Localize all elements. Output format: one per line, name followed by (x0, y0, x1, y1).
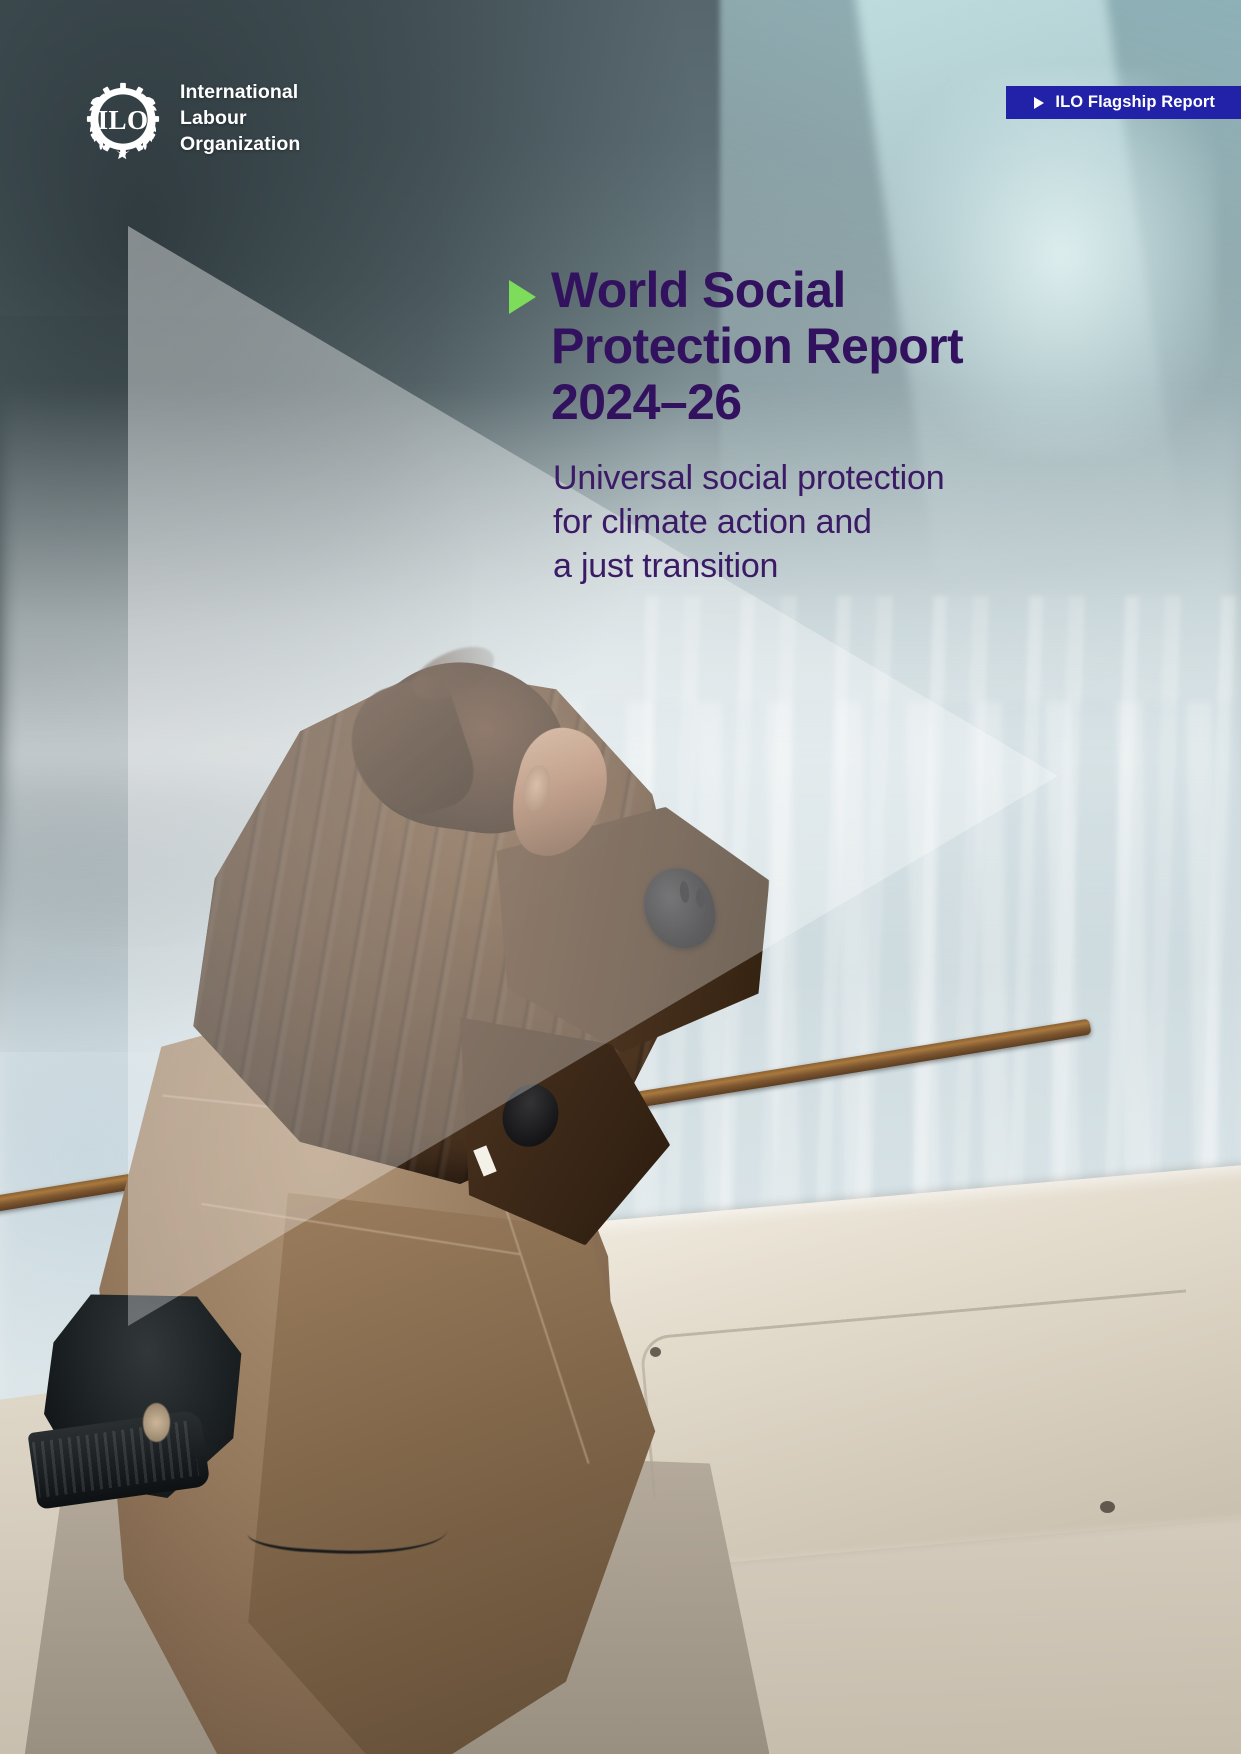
ilo-logo: ILO International Labour Organization (82, 78, 300, 160)
ilo-emblem-gear-laurel-icon: ILO (82, 78, 164, 160)
logo-line-organization: Organization (180, 132, 300, 158)
cool-cast-left (0, 807, 496, 1509)
svg-text:ILO: ILO (98, 105, 149, 135)
ilo-logo-wordmark: International Labour Organization (180, 80, 300, 158)
logo-line-labour: Labour (180, 106, 300, 132)
triangle-right-icon (1034, 97, 1044, 109)
title-row: World Social Protection Report 2024–26 (553, 262, 1113, 430)
subtitle-line-1: Universal social protection (553, 456, 1113, 500)
title-triangle-right-icon (509, 280, 536, 314)
flagship-report-badge: ILO Flagship Report (1006, 86, 1241, 119)
page-title: World Social Protection Report 2024–26 (551, 262, 963, 430)
page-subtitle: Universal social protection for climate … (553, 456, 1113, 589)
flagship-report-label: ILO Flagship Report (1055, 93, 1215, 112)
title-line-1: World Social (551, 262, 963, 318)
title-line-2: Protection Report (551, 318, 963, 374)
title-line-3: 2024–26 (551, 374, 963, 430)
subtitle-line-3: a just transition (553, 544, 1113, 588)
ice-striations-soft (571, 702, 1241, 1579)
report-cover-page: ILO International Labour Organization IL… (0, 0, 1241, 1754)
logo-line-international: International (180, 80, 300, 106)
cover-title-block: World Social Protection Report 2024–26 U… (553, 262, 1113, 589)
subtitle-line-2: for climate action and (553, 500, 1113, 544)
